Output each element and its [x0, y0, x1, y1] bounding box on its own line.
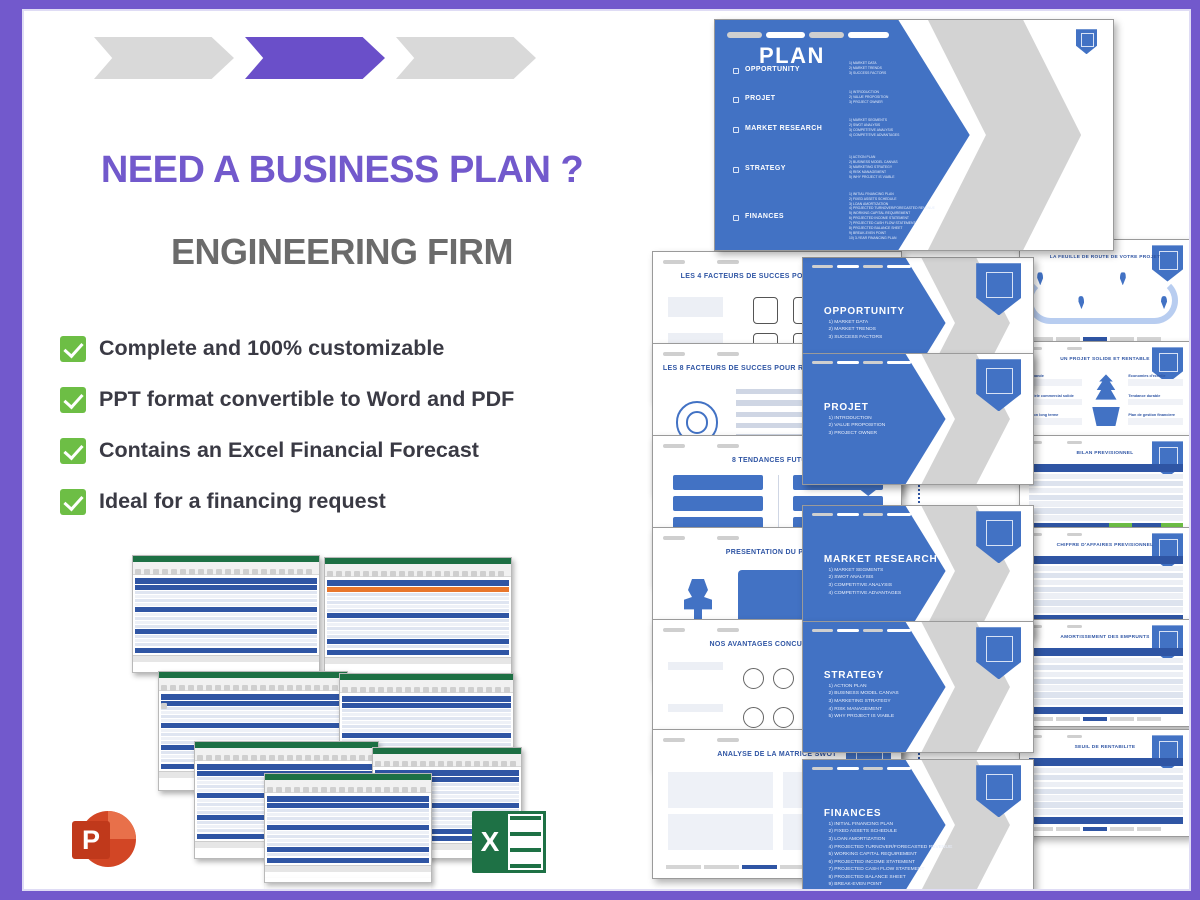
chevron-ribbon: [94, 37, 536, 79]
section-list-item: 5) WHY PROJECT IS VIABLE: [829, 713, 899, 721]
plan-section-label: MARKET RESEARCH: [745, 125, 822, 132]
slide-thumbnail-content[interactable]: LA FEUILLE DE ROUTE DE VOTRE PROJET: [1019, 239, 1189, 347]
list-item-label: PPT format convertible to Word and PDF: [99, 387, 514, 412]
section-list-item: 1) MARKET SEGMENTS: [829, 567, 902, 575]
slide-nav-pills: [812, 767, 911, 771]
slide-footer-nav: [1029, 827, 1161, 831]
page-title: NEED A BUSINESS PLAN ?: [62, 149, 622, 192]
text-line: [1027, 418, 1082, 424]
advantage-icon: [773, 707, 794, 728]
excel-sheet: [325, 577, 511, 657]
table-row: [1029, 809, 1184, 815]
target-icon-inner: [686, 411, 709, 434]
check-icon: [60, 489, 86, 515]
swot-quadrant: [668, 814, 773, 850]
brand-shield-icon: [1152, 625, 1183, 661]
table-footer: [1029, 817, 1184, 823]
plan-subitem-list: 1) MARKET DATA2) MARKET TRENDS3) SUCCESS…: [849, 61, 886, 76]
excel-statusbar: [325, 657, 511, 664]
feature-icon: [753, 297, 778, 324]
chevron-step-1: [94, 37, 234, 79]
plan-subitem-list: 1) INTRODUCTION2) VALUE PROPOSITION3) PR…: [849, 90, 888, 105]
slide-nav-pills: [1027, 347, 1104, 350]
table-row: [1029, 515, 1184, 521]
table-row: [1029, 802, 1184, 808]
plan-section-label: STRATEGY: [745, 165, 786, 172]
section-list-item: 1) INITIAL FINANCING PLAN: [829, 821, 953, 829]
section-list-item: 4) RISK MANAGEMENT: [829, 706, 899, 714]
section-list-item: 4) COMPETITIVE ADVANTAGES: [829, 590, 902, 598]
section-list-item: 7) PROJECTED CASH FLOW STATEMENT: [829, 866, 953, 874]
plant-label-left: Demande: [1027, 374, 1084, 378]
excel-ribbon: [159, 678, 347, 691]
plan-subitem: 3) COMPETITIVE ANALYSIS: [849, 128, 899, 133]
brand-shield-icon: [1076, 29, 1097, 54]
swot-quadrant: [668, 772, 773, 808]
content-slide-title: UN PROJET SOLIDE ET RENTABLE: [1020, 357, 1189, 362]
slide-nav-pills: [663, 628, 769, 632]
slide-nav-pills: [1027, 625, 1104, 628]
slide-thumbnail-section[interactable]: MARKET RESEARCH1) MARKET SEGMENTS2) SWOT…: [802, 505, 1034, 637]
table-row: [1029, 672, 1184, 678]
pot-icon: [1092, 407, 1120, 426]
excel-ribbon: [325, 564, 511, 577]
table-header: [1029, 556, 1184, 564]
content-slide-title: AMORTISSEMENT DES EMPRUNTS: [1020, 635, 1189, 640]
table-row: [1029, 474, 1184, 480]
plan-section-checkbox: [733, 127, 739, 133]
excel-ribbon: [265, 780, 431, 793]
plan-subitem: 3) PROJECT OWNER: [849, 100, 888, 105]
plan-subitem: 3) SUCCESS FACTORS: [849, 71, 886, 76]
excel-ribbon: [340, 680, 513, 693]
excel-letter: X: [472, 811, 508, 873]
plan-section-label: PROJET: [745, 95, 775, 102]
section-list: 1) INTRODUCTION2) VALUE PROPOSITION3) PR…: [829, 415, 886, 438]
content-box: [673, 496, 763, 511]
table-row: [1029, 685, 1184, 691]
table-header: [1029, 648, 1184, 656]
plan-section-checkbox: [733, 68, 739, 74]
brand-shield-icon: [1152, 533, 1183, 569]
excel-ribbon: [133, 562, 319, 575]
slide-thumbnail-plan[interactable]: PLANOPPORTUNITY1) MARKET DATA2) MARKET T…: [714, 19, 1114, 251]
table-row: [1029, 501, 1184, 507]
text-line: [1128, 418, 1183, 424]
table-row: [1029, 768, 1184, 774]
text-line: [1128, 379, 1183, 385]
excel-window: [132, 555, 320, 673]
table-row: [1029, 481, 1184, 487]
excel-ribbon: [373, 754, 521, 767]
section-title: STRATEGY: [824, 670, 884, 681]
plant-label-right: Economies d'echelle: [1128, 374, 1185, 378]
slide-nav-pills: [1027, 735, 1104, 738]
section-title: MARKET RESEARCH: [824, 554, 938, 565]
plant-label-right: Tendance durable: [1128, 394, 1185, 398]
chevron-step-2: [245, 37, 385, 79]
section-list-item: 4) PROJECTED TURNOVER/FORECASTED REVENUE: [829, 844, 953, 852]
table-row: [1029, 593, 1184, 599]
slide-thumbnail-content[interactable]: SEUIL DE RENTABILITE: [1019, 729, 1189, 837]
table-row: [1029, 775, 1184, 781]
table-row: [1029, 692, 1184, 698]
table-row: [1029, 782, 1184, 788]
slide-nav-pills: [727, 32, 889, 39]
section-list: 1) ACTION PLAN2) BUSINESS MODEL CANVAS3)…: [829, 683, 899, 721]
page-subtitle: ENGINEERING FIRM: [62, 231, 622, 273]
slide-nav-pills: [812, 361, 911, 365]
section-list-item: 2) FIXED ASSETS SCHEDULE: [829, 828, 953, 836]
section-list-item: 1) ACTION PLAN: [829, 683, 899, 691]
excel-logo: X: [472, 811, 546, 873]
slide-nav-pills: [812, 513, 911, 517]
list-item: Complete and 100% customizable: [60, 323, 640, 374]
slide-footer-nav: [1029, 717, 1161, 721]
plan-subitem-list: 1) MARKET SEGMENTS2) SWOT ANALYSIS3) COM…: [849, 118, 899, 138]
slide-thumbnail-section[interactable]: FINANCES1) INITIAL FINANCING PLAN2) FIXE…: [802, 759, 1034, 889]
section-list-item: 3) SUCCESS FACTORS: [829, 334, 883, 342]
list-item-label: Complete and 100% customizable: [99, 336, 444, 361]
section-list-item: 2) SWOT ANALYSIS: [829, 574, 902, 582]
table-row: [1029, 566, 1184, 572]
section-list-item: 3) MARKETING STRATEGY: [829, 698, 899, 706]
table-row: [1029, 508, 1184, 514]
slide-nav-pills: [663, 536, 769, 540]
content-box: [673, 475, 763, 490]
section-list-item: 3) COMPETITIVE ANALYSIS: [829, 582, 902, 590]
text-line: [668, 662, 723, 670]
slide-nav-pills: [663, 444, 769, 448]
table-row: [1029, 488, 1184, 494]
purple-frame: NEED A BUSINESS PLAN ? ENGINEERING FIRM …: [0, 0, 1200, 900]
plan-subitem-list: 1) INITIAL FINANCING PLAN2) FIXED ASSETS…: [849, 192, 935, 241]
check-icon: [60, 387, 86, 413]
powerpoint-letter: P: [72, 821, 110, 859]
section-title: FINANCES: [824, 808, 882, 819]
plan-section-checkbox: [733, 97, 739, 103]
table-row: [1029, 600, 1184, 606]
text-line: [1027, 399, 1082, 405]
excel-ribbon: [195, 748, 378, 761]
excel-window: [264, 773, 432, 883]
section-list: 1) MARKET DATA2) MARKET TRENDS3) SUCCESS…: [829, 319, 883, 342]
table-row: [1029, 607, 1184, 613]
table-row: [1029, 789, 1184, 795]
content-slide-title: BILAN PREVISIONNEL: [1020, 451, 1189, 456]
section-list-item: 2) VALUE PROPOSITION: [829, 422, 886, 430]
advantage-icon: [743, 707, 764, 728]
section-list-item: 6) PROJECTED INCOME STATEMENT: [829, 859, 953, 867]
slide-thumbnail-content[interactable]: UN PROJET SOLIDE ET RENTABLEDemandeEcono…: [1019, 341, 1189, 449]
text-line: [1027, 379, 1082, 385]
slide-thumbnail-section[interactable]: STRATEGY1) ACTION PLAN2) BUSINESS MODEL …: [802, 621, 1034, 753]
content-slide-title: LA FEUILLE DE ROUTE DE VOTRE PROJET: [1020, 255, 1189, 260]
feature-list: Complete and 100% customizable PPT forma…: [60, 323, 640, 527]
roadmap-icon: [1027, 277, 1178, 325]
slide-canvas: NEED A BUSINESS PLAN ? ENGINEERING FIRM …: [24, 11, 1189, 889]
check-icon: [60, 438, 86, 464]
plan-subitem: 10) 3-YEAR FINANCING PLAN: [849, 236, 935, 241]
table-row: [1029, 699, 1184, 705]
table-row: [1029, 665, 1184, 671]
content-slide-title: SEUIL DE RENTABILITE: [1020, 745, 1189, 750]
chevron-step-3: [396, 37, 536, 79]
list-item-label: Contains an Excel Financial Forecast: [99, 438, 479, 463]
slide-nav-pills: [1027, 441, 1104, 444]
list-item-label: Ideal for a financing request: [99, 489, 386, 514]
text-line: [668, 297, 723, 317]
section-list: 1) INITIAL FINANCING PLAN2) FIXED ASSETS…: [829, 821, 953, 889]
table-row: [1029, 573, 1184, 579]
section-list-item: 3) PROJECT OWNER: [829, 430, 886, 438]
table-row: [1029, 495, 1184, 501]
table-row: [1029, 580, 1184, 586]
table-row: [1029, 587, 1184, 593]
text-line: [1128, 399, 1183, 405]
table-footer: [1029, 707, 1184, 713]
slide-thumbnail-stack: LES 4 FACTEURS DE SUCCES POUR VOTRE PROJ…: [624, 11, 1189, 889]
plan-subitem: 4) COMPETITIVE ADVANTAGES: [849, 133, 899, 138]
excel-grid-icon: [508, 811, 546, 873]
section-list-item: 1) INTRODUCTION: [829, 415, 886, 423]
slide-nav-pills: [812, 629, 911, 633]
section-list-item: 9) BREAK-EVEN POINT: [829, 881, 953, 889]
section-list-item: 2) BUSINESS MODEL CANVAS: [829, 690, 899, 698]
list-item: Contains an Excel Financial Forecast: [60, 425, 640, 476]
advantage-icon: [773, 668, 794, 689]
excel-statusbar: [265, 888, 431, 889]
plan-subitem: 5) WHY PROJECT IS VIABLE: [849, 175, 898, 180]
section-title: PROJET: [824, 402, 869, 413]
plant-icon: [1091, 374, 1122, 406]
plan-section-checkbox: [733, 215, 739, 221]
plan-section-checkbox: [733, 167, 739, 173]
content-slide-title: CHIFFRE D'AFFAIRES PREVISIONNEL: [1020, 543, 1189, 548]
table-header: [1029, 758, 1184, 766]
brand-shield-icon: [1152, 245, 1183, 281]
plant-label-left: Modele commercial solide: [1027, 394, 1084, 398]
excel-sheet: [133, 575, 319, 655]
table-header: [1029, 464, 1184, 472]
slide-nav-pills: [663, 738, 769, 742]
slide-nav-pills: [812, 265, 911, 269]
plant-label-right: Plan de gestion financiere: [1128, 413, 1185, 417]
section-list: 1) MARKET SEGMENTS2) SWOT ANALYSIS3) COM…: [829, 567, 902, 597]
excel-sheet: [265, 793, 431, 865]
text-line: [668, 704, 723, 712]
section-list-item: 8) PROJECTED BALANCE SHEET: [829, 874, 953, 882]
slide-nav-pills: [663, 260, 769, 264]
list-item: PPT format convertible to Word and PDF: [60, 374, 640, 425]
check-icon: [60, 336, 86, 362]
brand-shield-icon: [1152, 735, 1183, 771]
excel-window: [324, 557, 512, 675]
powerpoint-logo: P: [72, 809, 136, 873]
section-list-item: 3) LOAN AMORTIZATION: [829, 836, 953, 844]
section-title: OPPORTUNITY: [824, 306, 905, 317]
table-row: [1029, 658, 1184, 664]
slide-nav-pills: [1027, 533, 1104, 536]
excel-window: [264, 877, 432, 889]
section-list-item: 2) MARKET TRENDS: [829, 326, 883, 334]
slide-thumbnail-section[interactable]: PROJET1) INTRODUCTION2) VALUE PROPOSITIO…: [802, 353, 1034, 485]
list-item: Ideal for a financing request: [60, 476, 640, 527]
table-row: [1029, 679, 1184, 685]
plant-label-left: Vision long terme: [1027, 413, 1084, 417]
slide-nav-pills: [663, 352, 769, 356]
brand-shield-icon: [1152, 441, 1183, 477]
plan-subitem-list: 1) ACTION PLAN2) BUSINESS MODEL CANVAS3)…: [849, 155, 898, 180]
advantage-icon: [743, 668, 764, 689]
table-row: [1029, 795, 1184, 801]
plan-section-label: FINANCES: [745, 213, 784, 220]
plan-section-label: OPPORTUNITY: [745, 66, 800, 73]
section-list-item: 5) WORKING CAPITAL REQUIREMENT: [829, 851, 953, 859]
excel-statusbar: [133, 655, 319, 662]
slide-thumbnail-content[interactable]: AMORTISSEMENT DES EMPRUNTS: [1019, 619, 1189, 727]
section-list-item: 1) MARKET DATA: [829, 319, 883, 327]
